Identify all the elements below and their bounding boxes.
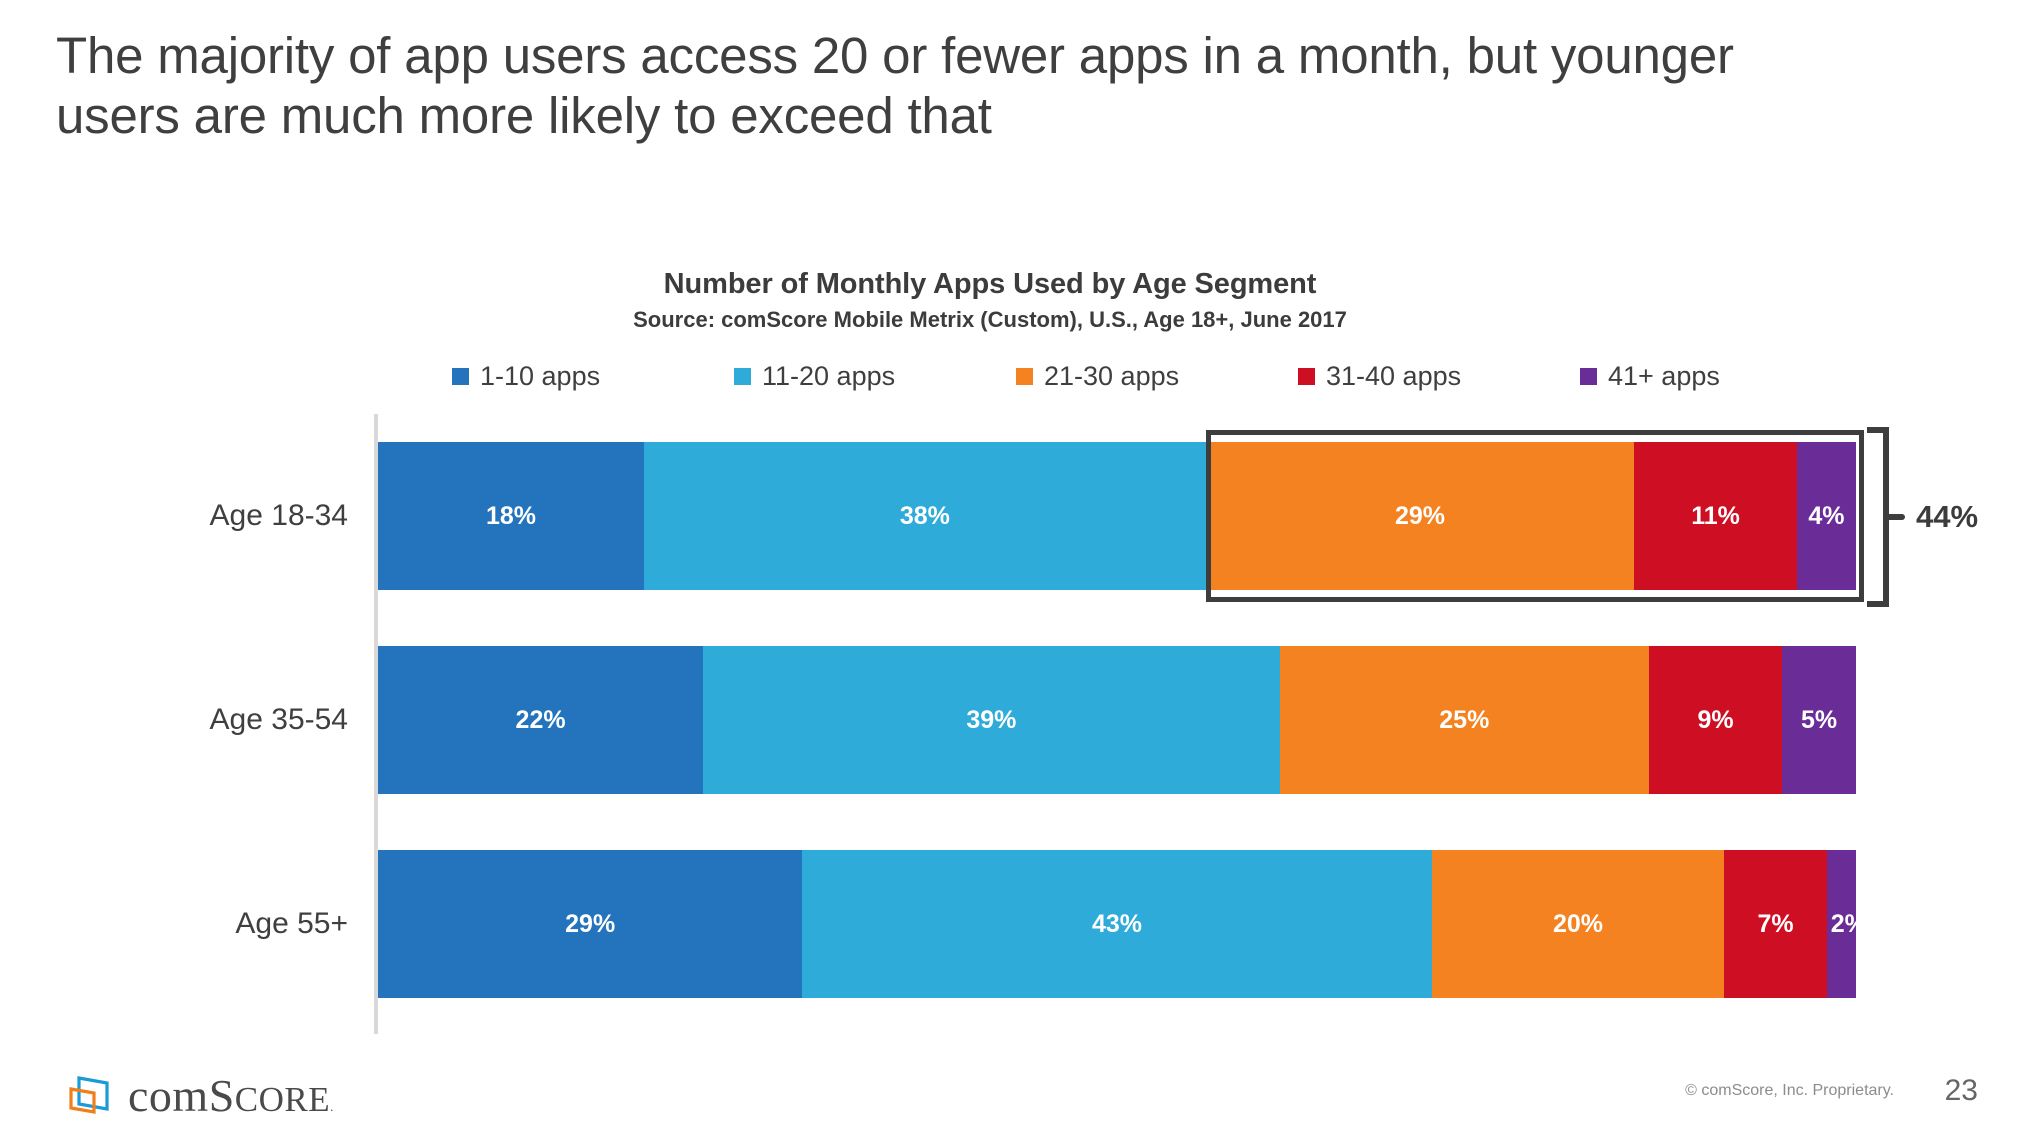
- bar-segment-value: 25%: [1439, 706, 1489, 735]
- bar-segment-1-10-apps[interactable]: 22%: [378, 646, 703, 794]
- bar-segment-31-40-apps[interactable]: 9%: [1649, 646, 1782, 794]
- bar-segment-value: 39%: [966, 706, 1016, 735]
- logo-text-s: S: [209, 1070, 235, 1121]
- legend-item-31-40-apps[interactable]: 31-40 apps: [1298, 361, 1580, 392]
- bar-segment-value: 22%: [516, 706, 566, 735]
- bar-segment-41-plus-apps[interactable]: 2%: [1827, 850, 1856, 998]
- bar-segment-41-plus-apps[interactable]: 4%: [1797, 442, 1856, 590]
- bar-segment-value: 4%: [1808, 502, 1844, 531]
- bar-segment-value: 11%: [1691, 502, 1740, 531]
- stacked-bar: 18% 38% 29% 11% 4%: [378, 442, 1856, 590]
- category-label: Age 55+: [235, 850, 378, 998]
- logo-text-com: com: [128, 1070, 209, 1121]
- callout-value-label: 44%: [1916, 499, 1978, 535]
- bar-segment-1-10-apps[interactable]: 18%: [378, 442, 644, 590]
- comscore-logo-mark-icon: [66, 1072, 114, 1120]
- bar-segment-21-30-apps[interactable]: 29%: [1206, 442, 1635, 590]
- category-label: Age 35-54: [210, 646, 378, 794]
- bar-segment-value: 29%: [565, 910, 615, 939]
- bar-segment-value: 38%: [900, 502, 950, 531]
- logo-text-core: CORE: [235, 1080, 330, 1119]
- bar-segment-value: 9%: [1698, 706, 1734, 735]
- chart-container: Number of Monthly Apps Used by Age Segme…: [0, 268, 2040, 1034]
- plot-area: Age 18-34 18% 38% 29% 11% 4% Age 35-54 2…: [0, 414, 2040, 1034]
- chart-title: Number of Monthly Apps Used by Age Segme…: [0, 268, 2040, 301]
- chart-legend: 1-10 apps 11-20 apps 21-30 apps 31-40 ap…: [0, 361, 2040, 392]
- legend-swatch-icon: [1016, 368, 1033, 385]
- comscore-logo: comSCORE.: [66, 1072, 334, 1120]
- callout-bracket-icon: [1866, 426, 1916, 608]
- bar-segment-value: 20%: [1553, 910, 1603, 939]
- bar-row: Age 18-34 18% 38% 29% 11% 4%: [378, 442, 1856, 590]
- bar-segment-value: 7%: [1757, 910, 1793, 939]
- legend-swatch-icon: [1298, 368, 1315, 385]
- bar-segment-1-10-apps[interactable]: 29%: [378, 850, 802, 998]
- chart-subtitle-source: Source: comScore Mobile Metrix (Custom),…: [0, 307, 2040, 333]
- bar-segment-31-40-apps[interactable]: 11%: [1634, 442, 1797, 590]
- legend-item-1-10-apps[interactable]: 1-10 apps: [452, 361, 734, 392]
- legend-item-41-plus-apps[interactable]: 41+ apps: [1580, 361, 1862, 392]
- bar-segment-31-40-apps[interactable]: 7%: [1724, 850, 1826, 998]
- footer-copyright: © comScore, Inc. Proprietary.: [1685, 1082, 1894, 1100]
- legend-item-11-20-apps[interactable]: 11-20 apps: [734, 361, 1016, 392]
- legend-label: 11-20 apps: [762, 361, 895, 392]
- legend-swatch-icon: [1580, 368, 1597, 385]
- stacked-bar: 29% 43% 20% 7% 2%: [378, 850, 1856, 998]
- category-label: Age 18-34: [210, 442, 378, 590]
- bar-segment-value: 2%: [1831, 910, 1856, 939]
- legend-label: 21-30 apps: [1044, 361, 1179, 392]
- legend-swatch-icon: [734, 368, 751, 385]
- legend-item-21-30-apps[interactable]: 21-30 apps: [1016, 361, 1298, 392]
- legend-swatch-icon: [452, 368, 469, 385]
- footer-page-number: 23: [1945, 1074, 1978, 1108]
- bar-segment-value: 18%: [486, 502, 536, 531]
- bar-segment-41-plus-apps[interactable]: 5%: [1782, 646, 1856, 794]
- bar-segment-value: 43%: [1092, 910, 1142, 939]
- legend-label: 1-10 apps: [480, 361, 600, 392]
- bar-segment-11-20-apps[interactable]: 38%: [644, 442, 1206, 590]
- bar-segment-21-30-apps[interactable]: 20%: [1432, 850, 1725, 998]
- comscore-wordmark: comSCORE.: [128, 1073, 334, 1119]
- bar-segment-21-30-apps[interactable]: 25%: [1280, 646, 1650, 794]
- legend-label: 41+ apps: [1608, 361, 1720, 392]
- bar-row: Age 55+ 29% 43% 20% 7% 2%: [378, 850, 1856, 998]
- bar-segment-value: 5%: [1801, 706, 1837, 735]
- legend-label: 31-40 apps: [1326, 361, 1461, 392]
- bar-segment-11-20-apps[interactable]: 43%: [802, 850, 1431, 998]
- bar-segment-11-20-apps[interactable]: 39%: [703, 646, 1279, 794]
- logo-text-tm: .: [330, 1099, 334, 1114]
- bar-segment-value: 29%: [1395, 502, 1445, 531]
- slide-headline: The majority of app users access 20 or f…: [56, 26, 1866, 146]
- bar-row: Age 35-54 22% 39% 25% 9% 5%: [378, 646, 1856, 794]
- stacked-bar: 22% 39% 25% 9% 5%: [378, 646, 1856, 794]
